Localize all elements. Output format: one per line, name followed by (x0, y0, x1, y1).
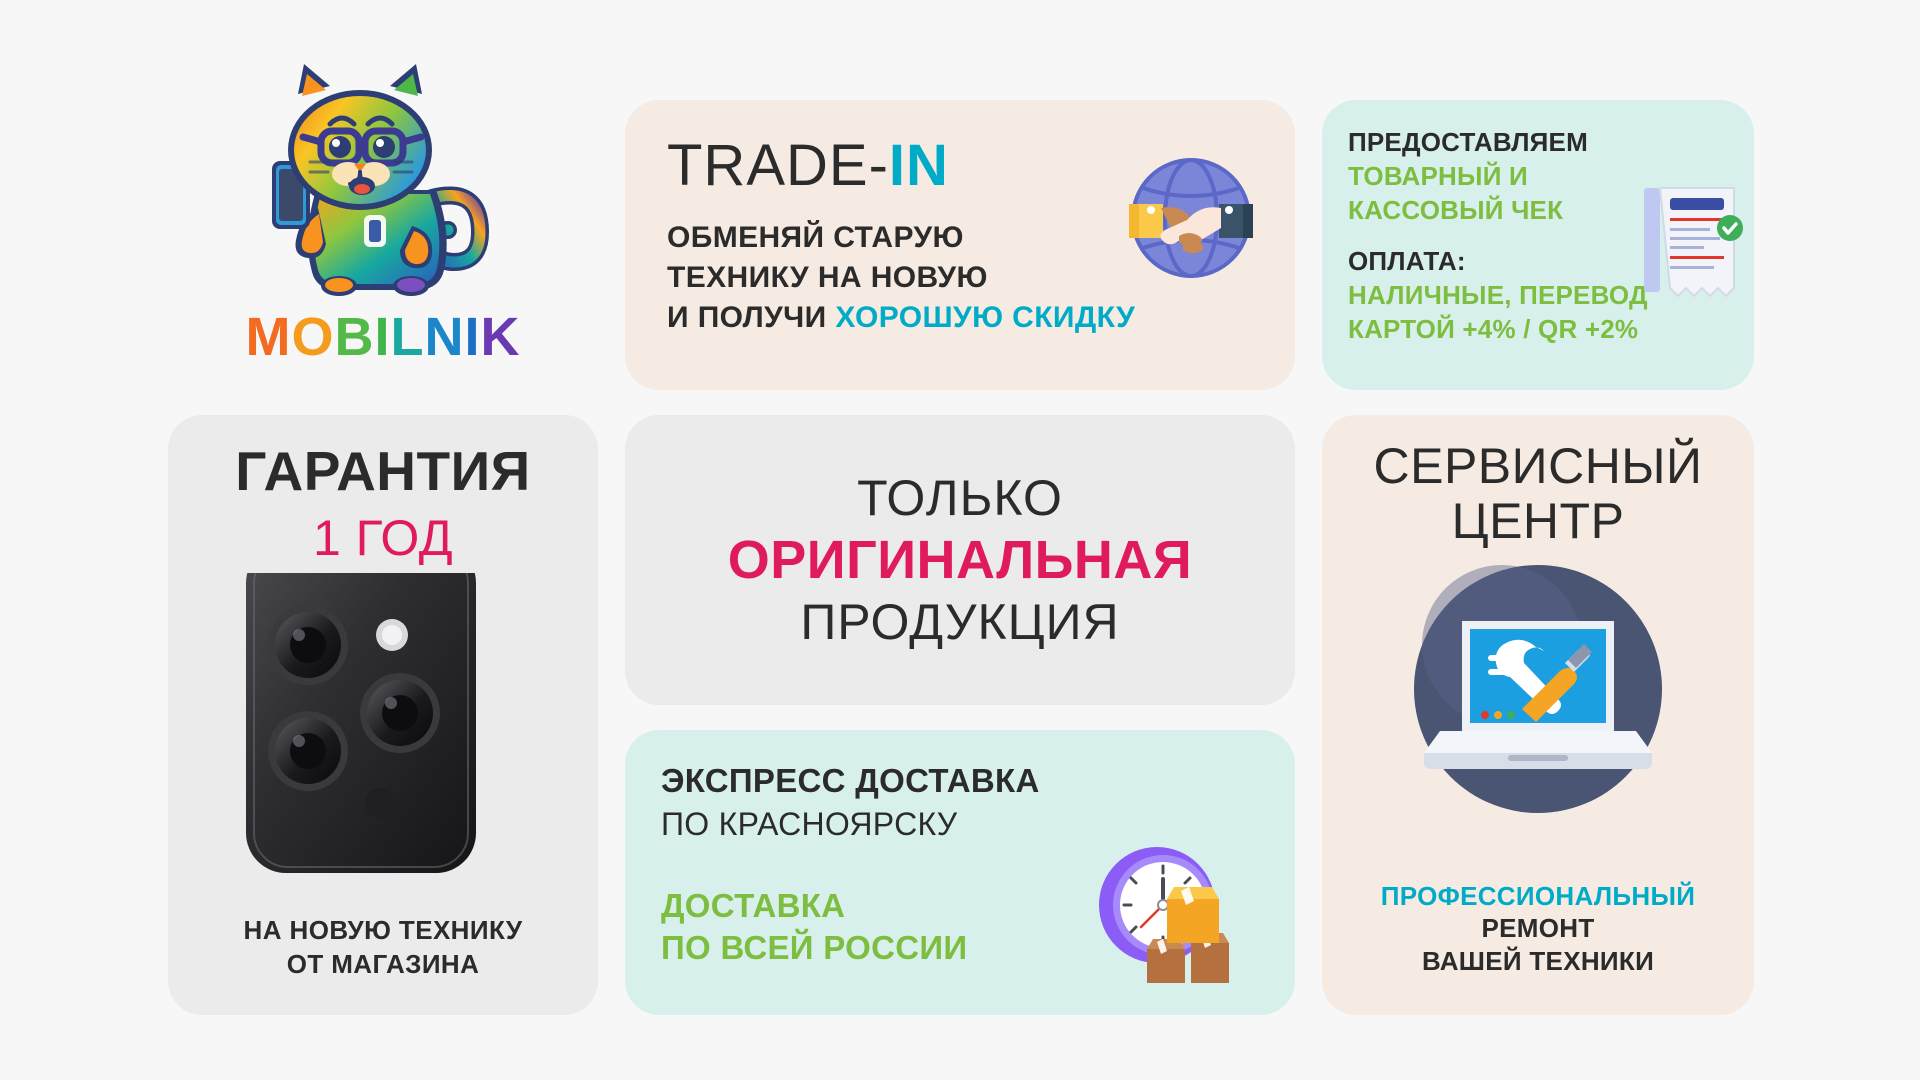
receipt-line-6: КАРТОЙ +4% / QR +2% (1348, 313, 1734, 347)
tradein-line-1: ОБМЕНЯЙ СТАРУЮ (667, 218, 1135, 258)
guarantee-note-line-1: НА НОВУЮ ТЕХНИКУ (168, 914, 598, 947)
receipt-check-icon (1636, 182, 1746, 312)
iphone-pro-camera-module-image (168, 573, 598, 873)
tradein-line-3-plain: И ПОЛУЧИ (667, 301, 835, 334)
logo-letter: O (291, 310, 334, 364)
receipt-line-1: ПРЕДОСТАВЛЯЕМ (1348, 126, 1734, 160)
card-service-center: СЕРВИСНЫЙ ЦЕНТР (1322, 415, 1754, 1015)
card-delivery: ЭКСПРЕСС ДОСТАВКА ПО КРАСНОЯРСКУ ДОСТАВК… (625, 730, 1295, 1015)
card-guarantee: ГАРАНТИЯ 1 ГОД (168, 415, 598, 1015)
card-receipt-payment: ПРЕДОСТАВЛЯЕМ ТОВАРНЫЙ И КАССОВЫЙ ЧЕК ОП… (1322, 100, 1754, 390)
guarantee-title: ГАРАНТИЯ (168, 439, 598, 503)
tradein-line-2: ТЕХНИКУ НА НОВУЮ (667, 258, 1135, 298)
service-note-line-2: РЕМОНТ (1322, 912, 1754, 945)
brand-logo-block: MOBILNIK (168, 58, 598, 388)
service-title-line-2: ЦЕНТР (1322, 494, 1754, 549)
logo-letter: M (245, 310, 291, 364)
logo-letter: I (465, 310, 481, 364)
guarantee-note-line-2: ОТ МАГАЗИНА (168, 948, 598, 981)
tradein-description: ОБМЕНЯЙ СТАРУЮ ТЕХНИКУ НА НОВУЮ И ПОЛУЧИ… (667, 218, 1135, 338)
service-note: ПРОФЕССИОНАЛЬНЫЙ РЕМОНТ ВАШЕЙ ТЕХНИКИ (1322, 880, 1754, 978)
delivery-russia-line-1: ДОСТАВКА (661, 885, 967, 927)
tradein-title-main: TRADE- (667, 133, 889, 198)
service-title: СЕРВИСНЫЙ ЦЕНТР (1322, 439, 1754, 549)
delivery-russia: ДОСТАВКА ПО ВСЕЙ РОССИИ (661, 885, 967, 969)
original-line-2: ОРИГИНАЛЬНАЯ (728, 529, 1192, 591)
service-note-accent: ПРОФЕССИОНАЛЬНЫЙ (1322, 880, 1754, 913)
logo-letter: N (425, 310, 465, 364)
service-note-line-3: ВАШЕЙ ТЕХНИКИ (1322, 945, 1754, 978)
brand-wordmark: MOBILNIK (168, 310, 598, 364)
rainbow-cat-with-phone-icon (226, 58, 496, 308)
delivery-head: ЭКСПРЕСС ДОСТАВКА (661, 762, 1040, 800)
clock-parcel-boxes-icon (1085, 833, 1265, 993)
card-original-products: ТОЛЬКО ОРИГИНАЛЬНАЯ ПРОДУКЦИЯ (625, 415, 1295, 705)
card-tradein: TRADE-IN ОБМЕНЯЙ СТАРУЮ ТЕХНИКУ НА НОВУЮ… (625, 100, 1295, 390)
delivery-russia-line-2: ПО ВСЕЙ РОССИИ (661, 927, 967, 969)
service-title-line-1: СЕРВИСНЫЙ (1322, 439, 1754, 494)
logo-letter: I (374, 310, 390, 364)
logo-letter: L (391, 310, 425, 364)
tradein-line-3: И ПОЛУЧИ ХОРОШУЮ СКИДКУ (667, 298, 1135, 338)
tradein-line-3-accent: ХОРОШУЮ СКИДКУ (835, 301, 1135, 334)
laptop-repair-tools-icon (1322, 559, 1754, 829)
delivery-sub: ПО КРАСНОЯРСКУ (661, 806, 957, 843)
logo-letter: B (334, 310, 374, 364)
guarantee-term: 1 ГОД (168, 509, 598, 567)
logo-letter: K (481, 310, 521, 364)
tradein-title-accent: IN (889, 133, 949, 198)
handshake-globe-icon (1121, 148, 1261, 288)
original-line-3: ПРОДУКЦИЯ (800, 593, 1119, 651)
guarantee-note: НА НОВУЮ ТЕХНИКУ ОТ МАГАЗИНА (168, 914, 598, 981)
original-products-text: ТОЛЬКО ОРИГИНАЛЬНАЯ ПРОДУКЦИЯ (625, 415, 1295, 705)
promo-banner: MOBILNIK ГАРАНТИЯ 1 ГОД (0, 0, 1920, 1080)
tradein-title: TRADE-IN (667, 132, 949, 199)
original-line-1: ТОЛЬКО (857, 469, 1063, 527)
